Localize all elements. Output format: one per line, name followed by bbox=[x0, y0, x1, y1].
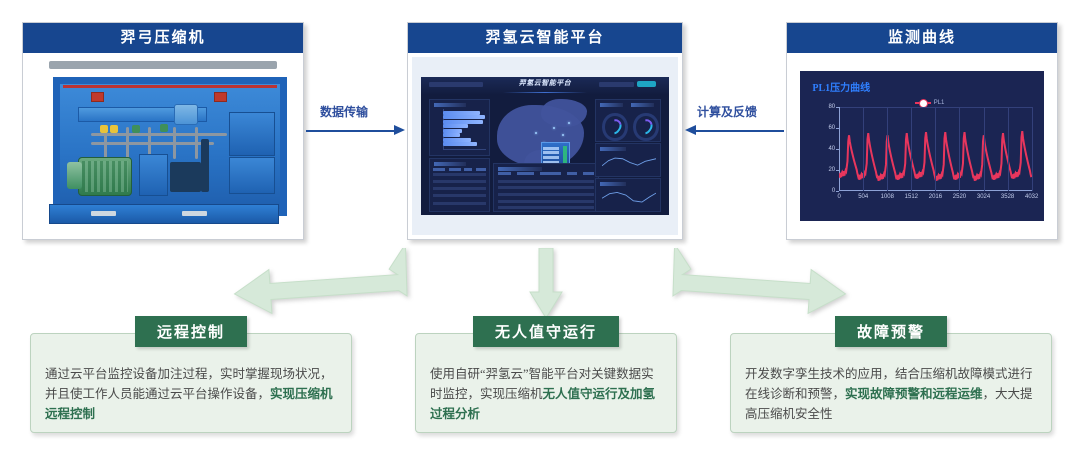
map-popup-status-chip bbox=[563, 146, 567, 162]
chart-gridline bbox=[935, 107, 936, 191]
pressure-chart-wrap: PL1压力曲线 PL1 0204060800504100815122016252… bbox=[791, 57, 1053, 235]
trend-lower-title bbox=[600, 182, 626, 186]
gauge-card-title-left bbox=[600, 103, 623, 107]
bar-item bbox=[443, 133, 460, 137]
chart-y-tick-label: 20 bbox=[828, 167, 835, 173]
chart-y-tick-mark bbox=[836, 128, 839, 129]
panel-monitor-curve-body: PL1压力曲线 PL1 0204060800504100815122016252… bbox=[787, 53, 1057, 239]
bar-item bbox=[443, 115, 485, 119]
feature-card-unattended-operation-title: 无人值守运行 bbox=[473, 316, 619, 347]
base-slot-left bbox=[91, 211, 116, 216]
chart-gridline bbox=[887, 107, 888, 191]
bar-item bbox=[443, 124, 468, 128]
gauge-dial-left bbox=[602, 113, 627, 141]
feature-card-remote-control-title: 远程控制 bbox=[135, 316, 247, 347]
compressor-red-box-left bbox=[91, 92, 104, 103]
feature-card-unattended-operation: 无人值守运行 使用自研“羿氢云”智能平台对关键数据实时监控，实现压缩机无人值守运… bbox=[415, 333, 677, 433]
chart-gridline bbox=[911, 107, 912, 191]
arrow-head-right-icon bbox=[394, 125, 405, 135]
pressure-chart: PL1压力曲线 PL1 0204060800504100815122016252… bbox=[800, 71, 1044, 221]
chart-y-tick-mark bbox=[836, 170, 839, 171]
chart-x-tick-label: 3528 bbox=[1001, 194, 1014, 200]
legend-label: PL1 bbox=[934, 100, 945, 106]
platform-dashboard: 羿氢云智能平台 bbox=[412, 57, 678, 235]
table-row bbox=[498, 186, 594, 189]
gauge-card-title-right bbox=[631, 103, 654, 107]
valve-green-a bbox=[132, 125, 140, 133]
dashboard-title-rule bbox=[503, 92, 587, 93]
bar-item bbox=[443, 111, 480, 115]
chart-x-tick-label: 504 bbox=[858, 194, 868, 200]
trend-sparkline-upper bbox=[602, 153, 656, 172]
chart-x-tick-label: 2016 bbox=[929, 194, 942, 200]
table-row bbox=[498, 180, 594, 183]
chart-gridline bbox=[863, 107, 864, 191]
chart-y-tick-label: 60 bbox=[828, 125, 835, 131]
map-node bbox=[535, 132, 537, 134]
motor-cooling-fins bbox=[82, 161, 128, 191]
pipe-vertical-d bbox=[173, 127, 176, 160]
table-header-cell bbox=[476, 168, 485, 171]
dashboard-trend-card-lower bbox=[595, 178, 661, 212]
bar-chart-x-axis bbox=[443, 149, 486, 150]
chart-y-tick-mark bbox=[836, 191, 839, 192]
panel-compressor: 羿弓压缩机 bbox=[22, 22, 304, 240]
dashboard-trend-card-upper bbox=[595, 143, 661, 177]
bar-item bbox=[443, 129, 462, 133]
panel-platform-body: 羿氢云智能平台 bbox=[408, 53, 682, 239]
compressor-top-rail bbox=[49, 61, 277, 69]
compressor-base-frame bbox=[49, 204, 279, 225]
chart-gridline bbox=[1008, 107, 1009, 191]
table-header-cell bbox=[567, 172, 577, 175]
compressor-cylinder bbox=[174, 104, 198, 125]
feature-card-fault-warning-title: 故障预警 bbox=[835, 316, 947, 347]
panel-monitor-curve: 监测曲线 PL1压力曲线 PL1 02040608005041008151220… bbox=[786, 22, 1058, 240]
trend-sparkline-lower bbox=[602, 188, 656, 207]
chart-gridline bbox=[959, 107, 960, 191]
chart-gridline bbox=[984, 107, 985, 191]
compressor-panel-box bbox=[229, 112, 275, 157]
feature-card-remote-control: 远程控制 通过云平台监控设备加注过程，实时掌握现场状况，并且使工作人员能通过云平… bbox=[30, 333, 352, 433]
dashboard-title: 羿氢云智能平台 bbox=[519, 78, 572, 88]
compressor-drive-unit bbox=[170, 162, 201, 192]
map-popup-line bbox=[543, 151, 559, 154]
arrow-data-transmission-label: 数据传输 bbox=[320, 103, 368, 120]
chart-y-tick-mark bbox=[836, 149, 839, 150]
compressor-motor bbox=[78, 157, 133, 197]
dashboard-status-chip-left bbox=[429, 82, 483, 87]
gauge-dial-right bbox=[633, 113, 658, 141]
legend-line-icon bbox=[915, 102, 931, 104]
dashboard-alarm-table-card bbox=[429, 158, 490, 211]
record-table-card-title bbox=[498, 167, 542, 171]
chart-title: PL1压力曲线 bbox=[812, 79, 870, 94]
arrow-shaft bbox=[306, 130, 396, 132]
arrow-shaft bbox=[694, 130, 784, 132]
map-popup-line bbox=[543, 147, 559, 150]
arrow-to-remote-control bbox=[230, 248, 410, 320]
chart-x-tick-label: 1512 bbox=[905, 194, 918, 200]
table-header-cell bbox=[464, 168, 472, 171]
compressor-red-rail bbox=[63, 85, 278, 88]
table-row bbox=[498, 193, 594, 196]
chart-y-tick-label: 40 bbox=[828, 146, 835, 152]
arrow-to-fault-warning bbox=[670, 248, 850, 320]
chart-y-tick-label: 0 bbox=[832, 188, 835, 194]
dashboard-bar-chart-card bbox=[429, 99, 490, 157]
compressor-skid bbox=[49, 68, 277, 225]
chart-legend[interactable]: PL1 bbox=[915, 100, 945, 106]
map-popup-line bbox=[543, 156, 559, 159]
valve-green-b bbox=[160, 124, 168, 132]
chart-x-tick-label: 3024 bbox=[977, 194, 990, 200]
table-row bbox=[433, 180, 485, 183]
chart-y-tick-mark bbox=[836, 107, 839, 108]
dashboard-screen: 羿氢云智能平台 bbox=[421, 77, 668, 216]
motor-fan-cover bbox=[67, 162, 82, 190]
alarm-table-card-title bbox=[434, 162, 467, 166]
base-slot-right bbox=[182, 211, 207, 216]
bar-item bbox=[443, 138, 470, 142]
table-header-cell bbox=[433, 168, 445, 171]
table-row bbox=[433, 194, 485, 197]
valve-yellow-b bbox=[110, 125, 118, 133]
bar-item bbox=[443, 142, 476, 146]
panel-platform-title: 羿氢云智能平台 bbox=[408, 23, 682, 53]
compressor-red-box-right bbox=[214, 92, 227, 103]
chart-plot-area: 0204060800504100815122016252030243528403… bbox=[839, 107, 1032, 191]
panel-monitor-curve-title: 监测曲线 bbox=[787, 23, 1057, 53]
panel-compressor-title: 羿弓压缩机 bbox=[23, 23, 303, 53]
table-row bbox=[433, 173, 485, 176]
arrow-head-left-icon bbox=[685, 125, 696, 135]
trend-upper-title bbox=[600, 147, 626, 151]
table-header-cell bbox=[583, 172, 593, 175]
table-header-cell bbox=[498, 172, 510, 175]
feature-card-fault-warning-text: 开发数字孪生技术的应用，结合压缩机故障模式进行在线诊断和预警，实现故障预警和远程… bbox=[745, 364, 1039, 424]
arrow-compute-feedback-label: 计算及反馈 bbox=[697, 103, 757, 120]
panel-platform: 羿氢云智能平台 羿氢云智能平台 bbox=[407, 22, 683, 240]
pipe-vertical-b bbox=[126, 127, 129, 160]
compressor-panel-box-lower bbox=[229, 157, 275, 194]
arrow-data-transmission bbox=[306, 124, 405, 136]
valve-yellow-a bbox=[100, 125, 108, 133]
table-row bbox=[498, 200, 594, 203]
map-landmass-north bbox=[541, 99, 587, 127]
table-row bbox=[433, 187, 485, 190]
pipe-horizontal-a bbox=[91, 133, 227, 136]
dashboard-status-chip-right bbox=[599, 82, 634, 87]
card-text-highlight: 实现故障预警和远程运维 bbox=[845, 387, 983, 401]
compressor-frame bbox=[53, 77, 286, 216]
bar-item bbox=[443, 120, 482, 124]
bar-chart-card-title bbox=[434, 103, 467, 107]
table-row bbox=[433, 202, 485, 205]
arrow-compute-feedback bbox=[685, 124, 784, 136]
chart-gridline bbox=[1032, 107, 1033, 191]
dashboard-action-pill[interactable] bbox=[637, 81, 657, 87]
table-header-cell bbox=[517, 172, 534, 175]
feature-card-fault-warning: 故障预警 开发数字孪生技术的应用，结合压缩机故障模式进行在线诊断和预警，实现故障… bbox=[730, 333, 1052, 433]
table-header-cell bbox=[540, 172, 561, 175]
chart-x-tick-label: 0 bbox=[837, 194, 840, 200]
arrow-to-unattended-operation bbox=[528, 248, 564, 320]
chart-x-tick-label: 4032 bbox=[1025, 194, 1038, 200]
map-node bbox=[568, 122, 570, 124]
compressor-photo bbox=[27, 57, 299, 235]
map-node bbox=[562, 134, 564, 136]
pipe-vertical-e bbox=[195, 127, 198, 160]
feature-card-remote-control-text: 通过云平台监控设备加注过程，实时掌握现场状况，并且使工作人员能通过云平台操作设备… bbox=[45, 364, 339, 424]
dashboard-gauge-card bbox=[595, 99, 661, 143]
chart-x-tick-label: 1008 bbox=[881, 194, 894, 200]
chart-y-tick-label: 80 bbox=[828, 104, 835, 110]
compressor-hose-bundle bbox=[201, 139, 210, 192]
compressor-pipework bbox=[91, 127, 249, 160]
chart-x-tick-label: 2520 bbox=[953, 194, 966, 200]
dashboard-record-table-card bbox=[493, 163, 599, 212]
table-row bbox=[498, 206, 594, 209]
panel-compressor-body bbox=[23, 53, 303, 239]
table-header-cell bbox=[449, 168, 461, 171]
compressor-crankcase bbox=[139, 154, 167, 196]
feature-card-unattended-operation-text: 使用自研“羿氢云”智能平台对关键数据实时监控，实现压缩机无人值守运行及加氢过程分… bbox=[430, 364, 664, 424]
